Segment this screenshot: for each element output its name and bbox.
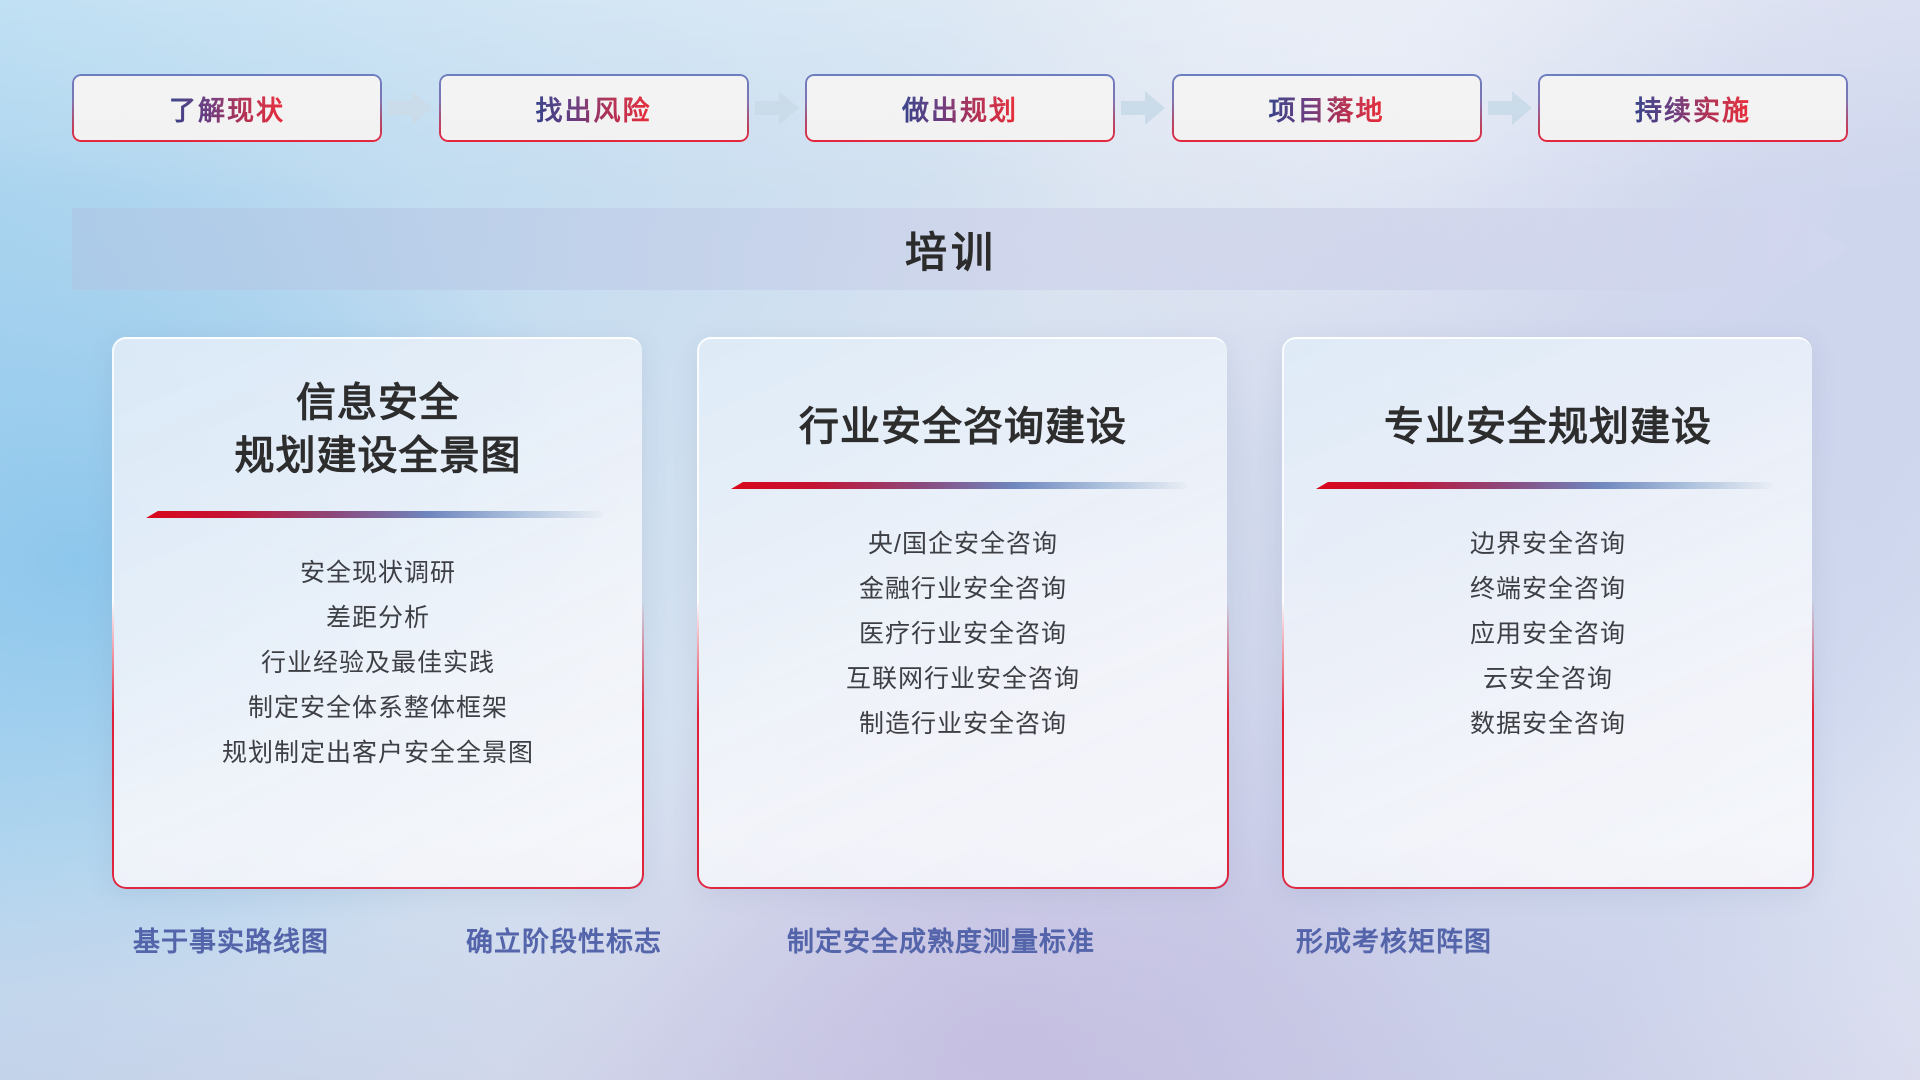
card-3-list: 边界安全咨询 终端安全咨询 应用安全咨询 云安全咨询 数据安全咨询 — [1284, 522, 1812, 747]
list-item: 互联网行业安全咨询 — [699, 657, 1227, 702]
card-1-list: 安全现状调研 差距分析 行业经验及最佳实践 制定安全体系整体框架 规划制定出客户… — [114, 551, 642, 776]
list-item: 安全现状调研 — [114, 551, 642, 596]
list-item: 制定安全体系整体框架 — [114, 686, 642, 731]
list-item: 云安全咨询 — [1284, 657, 1812, 702]
list-item: 终端安全咨询 — [1284, 567, 1812, 612]
step-arrow-2 — [749, 91, 806, 125]
step-box-5[interactable]: 持续实施 — [1538, 74, 1848, 142]
card-1-divider — [146, 509, 602, 521]
list-item: 应用安全咨询 — [1284, 612, 1812, 657]
process-step-row: 了解现状 找出风险 做出规划 项目落地 — [72, 74, 1848, 142]
step-label-3: 做出规划 — [902, 89, 1018, 128]
list-item: 制造行业安全咨询 — [699, 702, 1227, 747]
bottom-label-row: 基于事实路线图 确立阶段性标志 制定安全成熟度测量标准 形成考核矩阵图 — [0, 920, 1920, 980]
card-3[interactable]: 专业安全规划建设 — [1282, 337, 1812, 887]
card-2-title: 行业安全咨询建设 — [699, 339, 1227, 454]
step-box-4[interactable]: 项目落地 — [1172, 74, 1482, 142]
list-item: 医疗行业安全咨询 — [699, 612, 1227, 657]
card-3-divider — [1316, 480, 1772, 492]
bottom-label-3: 制定安全成熟度测量标准 — [787, 920, 1095, 959]
step-label-4: 项目落地 — [1269, 89, 1385, 128]
step-box-3[interactable]: 做出规划 — [805, 74, 1115, 142]
bottom-label-2: 确立阶段性标志 — [466, 920, 662, 959]
step-box-1[interactable]: 了解现状 — [72, 74, 382, 142]
card-3-title: 专业安全规划建设 — [1284, 339, 1812, 454]
step-arrow-1 — [382, 91, 439, 125]
list-item: 行业经验及最佳实践 — [114, 641, 642, 686]
step-arrow-4 — [1482, 91, 1539, 125]
list-item: 金融行业安全咨询 — [699, 567, 1227, 612]
list-item: 差距分析 — [114, 596, 642, 641]
step-label-1: 了解现状 — [169, 89, 285, 128]
list-item: 边界安全咨询 — [1284, 522, 1812, 567]
slide-canvas: 了解现状 找出风险 做出规划 项目落地 — [0, 0, 1920, 1080]
training-banner: 培训 — [72, 208, 1848, 290]
step-box-2[interactable]: 找出风险 — [439, 74, 749, 142]
bottom-label-4: 形成考核矩阵图 — [1296, 920, 1492, 959]
card-2[interactable]: 行业安全咨询建设 — [697, 337, 1227, 887]
step-arrow-3 — [1115, 91, 1172, 125]
card-2-divider — [731, 480, 1187, 492]
list-item: 规划制定出客户安全全景图 — [114, 731, 642, 776]
step-label-5: 持续实施 — [1635, 89, 1751, 128]
banner-title: 培训 — [72, 208, 1848, 290]
list-item: 央/国企安全咨询 — [699, 522, 1227, 567]
card-2-list: 央/国企安全咨询 金融行业安全咨询 医疗行业安全咨询 互联网行业安全咨询 制造行… — [699, 522, 1227, 747]
step-label-2: 找出风险 — [536, 89, 652, 128]
card-1-title: 信息安全 规划建设全景图 — [114, 339, 642, 483]
list-item: 数据安全咨询 — [1284, 702, 1812, 747]
card-1[interactable]: 信息安全 规划建设全景图 — [112, 337, 642, 887]
card-row: 信息安全 规划建设全景图 — [112, 337, 1812, 887]
bottom-label-1: 基于事实路线图 — [133, 920, 329, 959]
